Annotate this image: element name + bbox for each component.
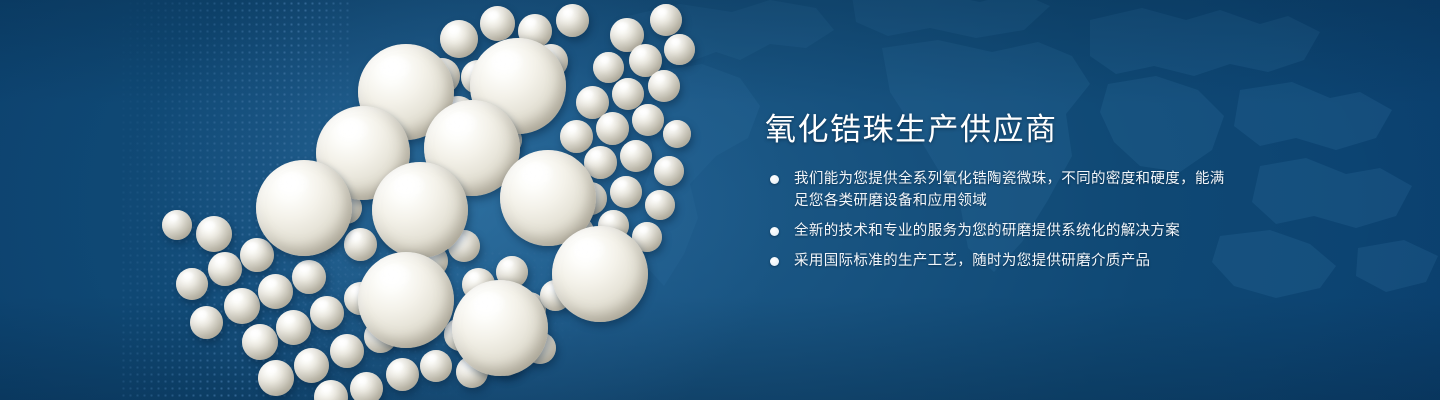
page-title: 氧化锆珠生产供应商 [765, 111, 1058, 149]
hero-banner: 氧化锆珠生产供应商 我们能为您提供全系列氧化锆陶瓷微珠，不同的密度和硬度，能满足… [0, 0, 1440, 400]
feature-list: 我们能为您提供全系列氧化锆陶瓷微珠，不同的密度和硬度，能满足您各类研磨设备和应用… [768, 168, 1238, 272]
bullet-dot-icon [770, 227, 779, 236]
list-item: 全新的技术和专业的服务为您的研磨提供系统化的解决方案 [768, 220, 1238, 242]
list-item-text: 采用国际标准的生产工艺，随时为您提供研磨介质产品 [794, 253, 1150, 269]
list-item-text: 全新的技术和专业的服务为您的研磨提供系统化的解决方案 [794, 223, 1180, 239]
list-item-text: 我们能为您提供全系列氧化锆陶瓷微珠，不同的密度和硬度，能满足您各类研磨设备和应用… [794, 171, 1225, 209]
banner-text-column: 氧化锆珠生产供应商 我们能为您提供全系列氧化锆陶瓷微珠，不同的密度和硬度，能满足… [765, 0, 1385, 400]
list-item: 采用国际标准的生产工艺，随时为您提供研磨介质产品 [768, 250, 1238, 272]
bullet-dot-icon [770, 175, 779, 184]
bullet-dot-icon [770, 257, 779, 266]
list-item: 我们能为您提供全系列氧化锆陶瓷微珠，不同的密度和硬度，能满足您各类研磨设备和应用… [768, 168, 1238, 212]
